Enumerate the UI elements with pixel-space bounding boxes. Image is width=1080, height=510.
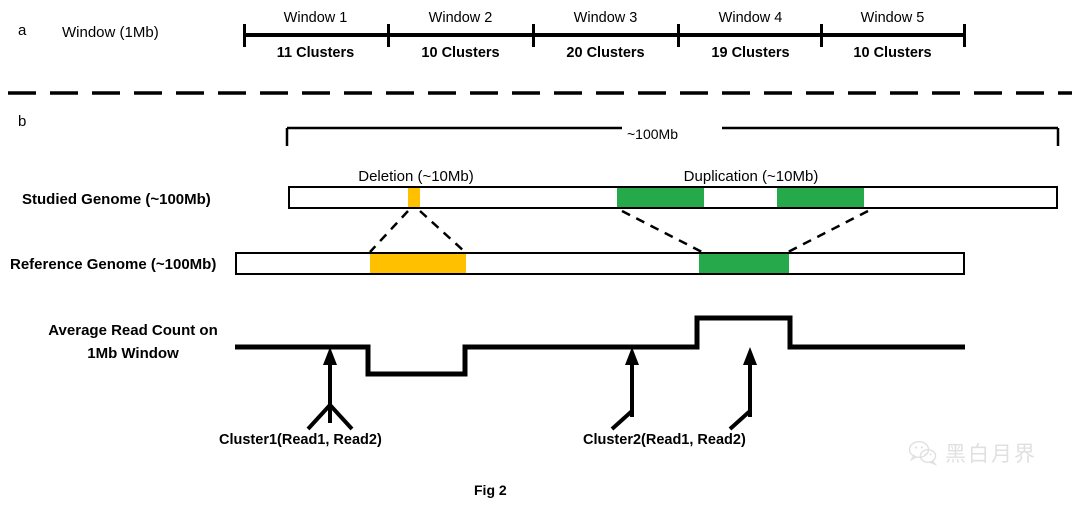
window-2-clusters: 10 Clusters <box>388 45 533 61</box>
axis-tick-4 <box>820 24 823 47</box>
cluster1-arrow <box>290 345 370 430</box>
window-1-name: Window 1 <box>243 10 388 26</box>
readcount-label-line1: Average Read Count on <box>38 322 228 339</box>
reference-deletion-segment <box>370 254 466 273</box>
window-3-name: Window 3 <box>533 10 678 26</box>
window-3-clusters: 20 Clusters <box>533 45 678 61</box>
cluster2-caption: Cluster2(Read1, Read2) <box>583 432 746 448</box>
window-5-name: Window 5 <box>820 10 965 26</box>
window-axis-line <box>243 33 965 37</box>
axis-tick-2 <box>532 24 535 47</box>
window-4-name: Window 4 <box>678 10 823 26</box>
studied-deletion-segment <box>408 188 420 207</box>
axis-tick-1 <box>387 24 390 47</box>
deletion-title: Deletion (~10Mb) <box>328 168 504 185</box>
reference-genome-bar <box>235 252 965 275</box>
window-1-clusters: 11 Clusters <box>243 45 388 61</box>
studied-duplication-segment-2 <box>777 188 864 207</box>
axis-tick-5 <box>963 24 966 47</box>
window-2-name: Window 2 <box>388 10 533 26</box>
wechat-icon <box>908 440 938 466</box>
watermark: 黑白月界 <box>908 438 1037 468</box>
cluster1-caption: Cluster1(Read1, Read2) <box>219 432 382 448</box>
studied-genome-label: Studied Genome (~100Mb) <box>22 191 211 208</box>
reference-genome-label: Reference Genome (~100Mb) <box>10 256 216 273</box>
axis-tick-0 <box>243 24 246 47</box>
reference-duplication-segment <box>699 254 789 273</box>
panel-b-letter: b <box>18 113 26 130</box>
panel-a-letter: a <box>18 22 26 39</box>
panel-divider <box>0 90 1080 96</box>
axis-tick-3 <box>677 24 680 47</box>
studied-duplication-segment-1 <box>617 188 704 207</box>
duplication-connector-lines <box>610 209 900 254</box>
panel-a-row-label: Window (1Mb) <box>62 24 159 41</box>
window-4-clusters: 19 Clusters <box>678 45 823 61</box>
readcount-label-line2: 1Mb Window <box>38 345 228 362</box>
figure-canvas: a Window (1Mb) Window 1 Window 2 Window … <box>0 0 1080 510</box>
window-5-clusters: 10 Clusters <box>820 45 965 61</box>
figure-caption: Fig 2 <box>474 482 507 498</box>
cluster2-arrow-right <box>720 345 820 430</box>
watermark-text: 黑白月界 <box>945 438 1037 468</box>
genome-span-label: ~100Mb <box>622 126 683 142</box>
duplication-title: Duplication (~10Mb) <box>652 168 850 185</box>
studied-genome-bar <box>288 186 1058 209</box>
